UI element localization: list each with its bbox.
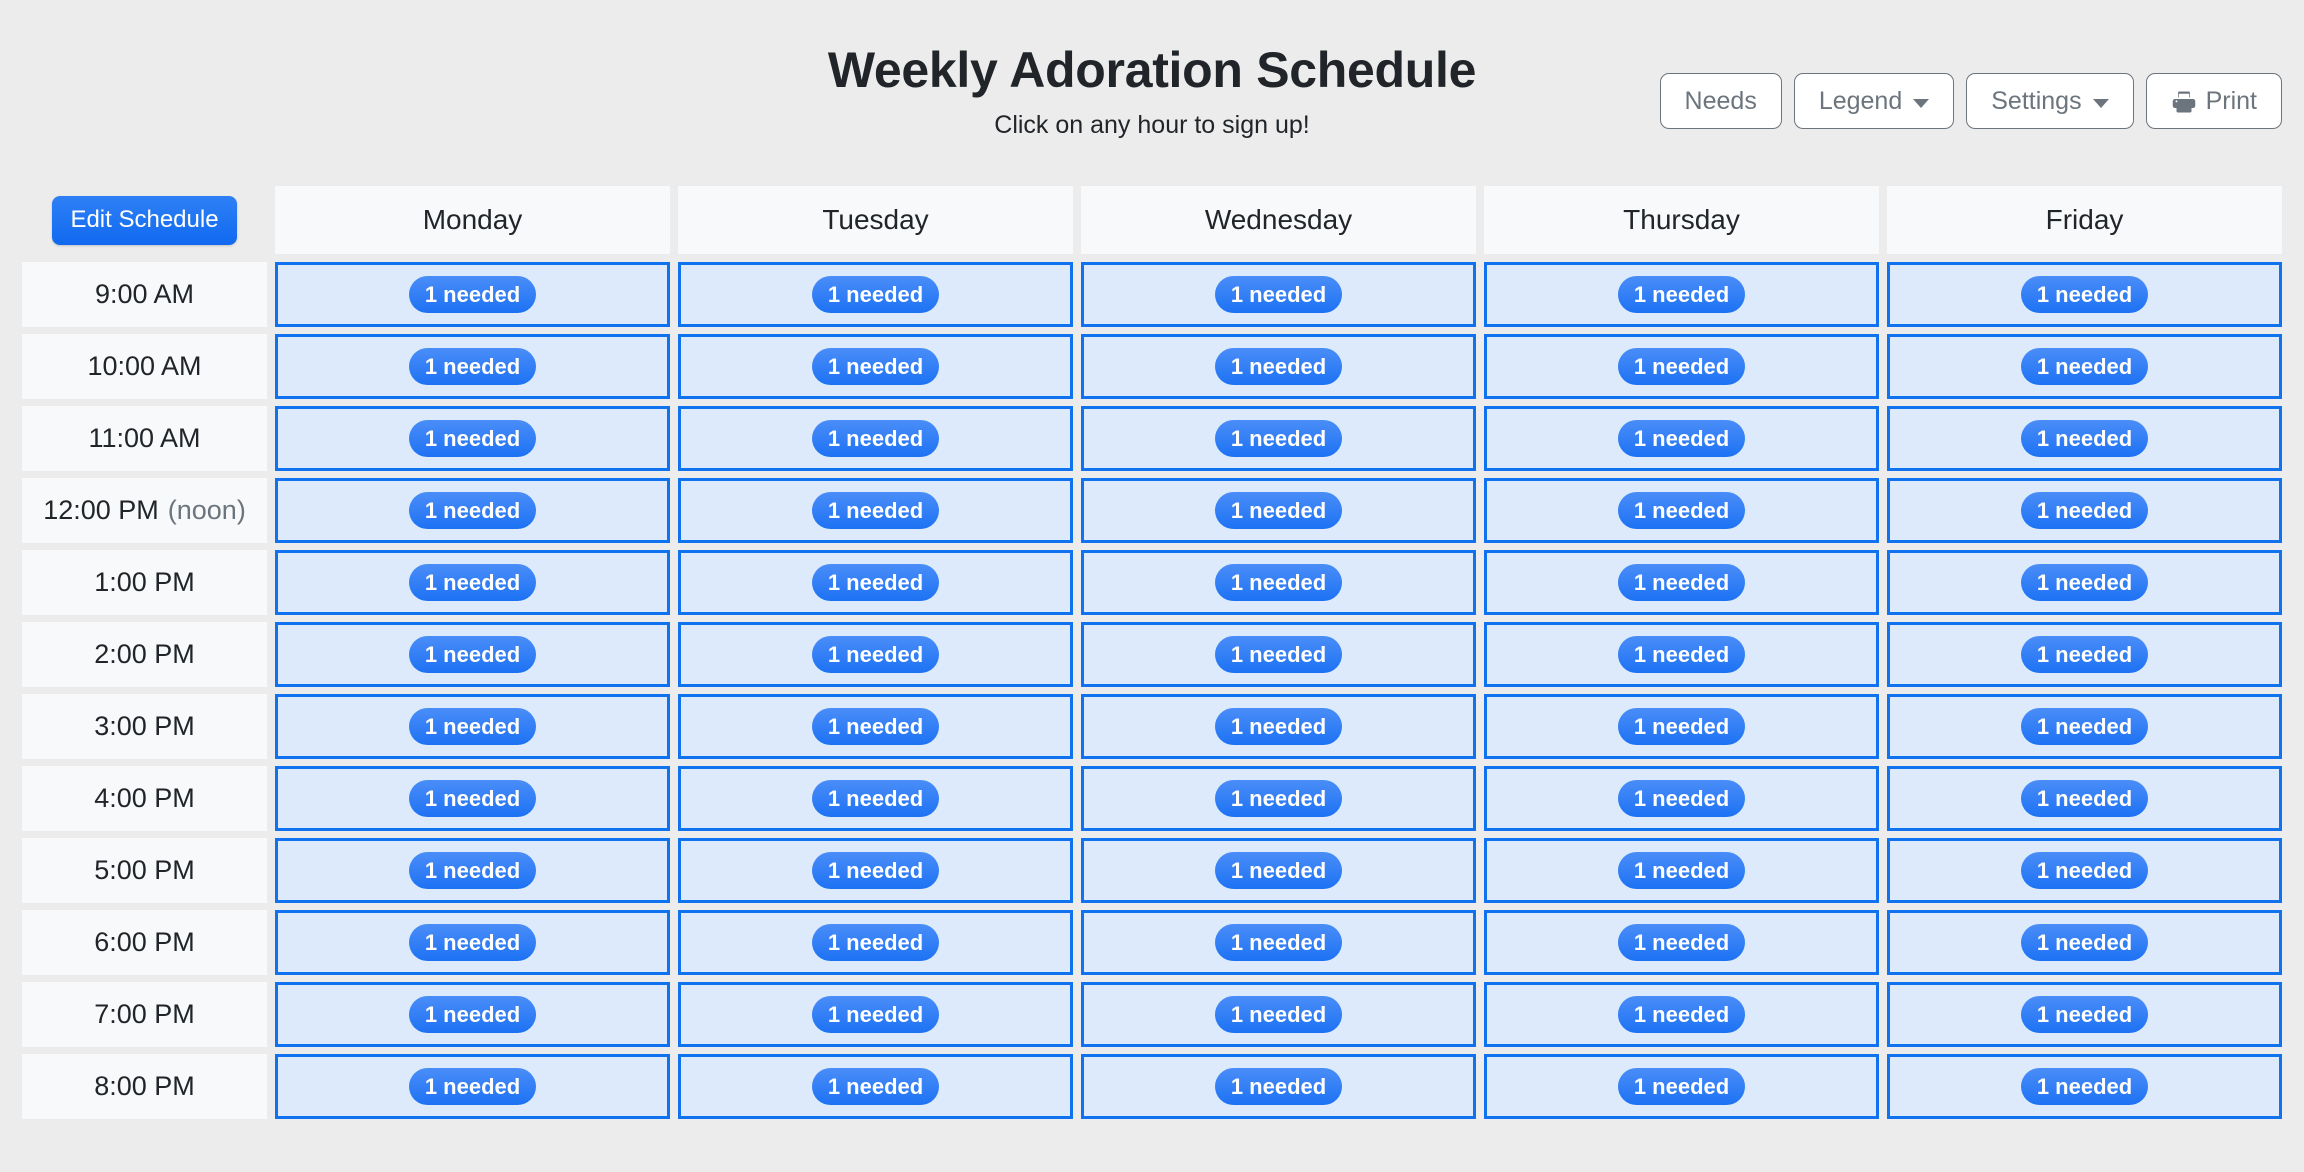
schedule-cell-tuesday: 1 needed: [678, 478, 1073, 543]
hour-slot[interactable]: 1 needed: [1484, 1054, 1879, 1119]
schedule-row: 9:00 AM1 needed1 needed1 needed1 needed1…: [0, 262, 2304, 327]
schedule-cell-wednesday: 1 needed: [1081, 910, 1476, 975]
time-label: 4:00 PM: [22, 766, 267, 831]
needed-badge: 1 needed: [1215, 1068, 1342, 1105]
schedule-cell-friday: 1 needed: [1887, 694, 2282, 759]
time-label-cell: 4:00 PM: [22, 766, 267, 831]
time-label: 7:00 PM: [22, 982, 267, 1047]
schedule-row: 5:00 PM1 needed1 needed1 needed1 needed1…: [0, 838, 2304, 903]
time-label: 9:00 AM: [22, 262, 267, 327]
needs-button-label: Needs: [1685, 89, 1757, 114]
hour-slot[interactable]: 1 needed: [1484, 766, 1879, 831]
hour-slot[interactable]: 1 needed: [1484, 406, 1879, 471]
hour-slot[interactable]: 1 needed: [1887, 766, 2282, 831]
schedule-cell-wednesday: 1 needed: [1081, 262, 1476, 327]
hour-slot[interactable]: 1 needed: [275, 550, 670, 615]
needed-badge: 1 needed: [409, 1068, 536, 1105]
day-header-friday: Friday: [1887, 186, 2282, 254]
day-header-label: Thursday: [1484, 186, 1879, 254]
schedule-row: 3:00 PM1 needed1 needed1 needed1 needed1…: [0, 694, 2304, 759]
hour-slot[interactable]: 1 needed: [1484, 478, 1879, 543]
chevron-down-icon: [2093, 99, 2109, 108]
schedule-row: 2:00 PM1 needed1 needed1 needed1 needed1…: [0, 622, 2304, 687]
needed-badge: 1 needed: [2021, 636, 2148, 673]
needed-badge: 1 needed: [812, 708, 939, 745]
hour-slot[interactable]: 1 needed: [1484, 334, 1879, 399]
time-label-cell: 9:00 AM: [22, 262, 267, 327]
schedule-cell-tuesday: 1 needed: [678, 910, 1073, 975]
printer-icon: [2171, 90, 2197, 114]
schedule-page: Weekly Adoration Schedule Click on any h…: [0, 0, 2304, 1172]
hour-slot[interactable]: 1 needed: [275, 766, 670, 831]
hour-slot[interactable]: 1 needed: [1081, 406, 1476, 471]
time-label-cell: 1:00 PM: [22, 550, 267, 615]
hour-slot[interactable]: 1 needed: [1887, 334, 2282, 399]
needed-badge: 1 needed: [1215, 348, 1342, 385]
time-label-text: 8:00 PM: [94, 1071, 195, 1102]
header-toolbar: Needs Legend Settings Print: [1660, 73, 2282, 129]
hour-slot[interactable]: 1 needed: [678, 334, 1073, 399]
needed-badge: 1 needed: [1215, 996, 1342, 1033]
schedule-row: 7:00 PM1 needed1 needed1 needed1 needed1…: [0, 982, 2304, 1047]
day-header-monday: Monday: [275, 186, 670, 254]
edit-schedule-cell: Edit Schedule: [22, 186, 267, 254]
schedule-cell-monday: 1 needed: [275, 694, 670, 759]
schedule-row: 1:00 PM1 needed1 needed1 needed1 needed1…: [0, 550, 2304, 615]
schedule-cell-wednesday: 1 needed: [1081, 406, 1476, 471]
hour-slot[interactable]: 1 needed: [678, 1054, 1073, 1119]
schedule-cell-monday: 1 needed: [275, 334, 670, 399]
needed-badge: 1 needed: [2021, 276, 2148, 313]
chevron-down-icon: [1913, 99, 1929, 108]
schedule-cell-friday: 1 needed: [1887, 622, 2282, 687]
schedule-rows: 9:00 AM1 needed1 needed1 needed1 needed1…: [0, 262, 2304, 1119]
hour-slot[interactable]: 1 needed: [1887, 406, 2282, 471]
schedule-cell-thursday: 1 needed: [1484, 622, 1879, 687]
time-label: 3:00 PM: [22, 694, 267, 759]
needed-badge: 1 needed: [1215, 780, 1342, 817]
needed-badge: 1 needed: [1215, 708, 1342, 745]
schedule-row: 6:00 PM1 needed1 needed1 needed1 needed1…: [0, 910, 2304, 975]
needed-badge: 1 needed: [409, 276, 536, 313]
schedule-cell-friday: 1 needed: [1887, 478, 2282, 543]
needed-badge: 1 needed: [1618, 420, 1745, 457]
needed-badge: 1 needed: [812, 924, 939, 961]
schedule-cell-thursday: 1 needed: [1484, 766, 1879, 831]
time-label-text: 7:00 PM: [94, 999, 195, 1030]
hour-slot[interactable]: 1 needed: [1887, 622, 2282, 687]
needed-badge: 1 needed: [409, 996, 536, 1033]
hour-slot[interactable]: 1 needed: [1081, 478, 1476, 543]
time-label-cell: 2:00 PM: [22, 622, 267, 687]
hour-slot[interactable]: 1 needed: [1887, 262, 2282, 327]
schedule-cell-monday: 1 needed: [275, 838, 670, 903]
hour-slot[interactable]: 1 needed: [1887, 550, 2282, 615]
time-label: 8:00 PM: [22, 1054, 267, 1119]
hour-slot[interactable]: 1 needed: [1081, 982, 1476, 1047]
hour-slot[interactable]: 1 needed: [275, 694, 670, 759]
time-label: 2:00 PM: [22, 622, 267, 687]
time-label-cell: 12:00 PM(noon): [22, 478, 267, 543]
time-label-text: 5:00 PM: [94, 855, 195, 886]
time-label-cell: 5:00 PM: [22, 838, 267, 903]
time-label: 12:00 PM(noon): [22, 478, 267, 543]
schedule-cell-wednesday: 1 needed: [1081, 622, 1476, 687]
needed-badge: 1 needed: [1215, 420, 1342, 457]
hour-slot[interactable]: 1 needed: [275, 982, 670, 1047]
hour-slot[interactable]: 1 needed: [1081, 766, 1476, 831]
time-label-cell: 7:00 PM: [22, 982, 267, 1047]
schedule-cell-thursday: 1 needed: [1484, 334, 1879, 399]
needed-badge: 1 needed: [409, 708, 536, 745]
needed-badge: 1 needed: [812, 564, 939, 601]
schedule-row: 10:00 AM1 needed1 needed1 needed1 needed…: [0, 334, 2304, 399]
time-label-cell: 11:00 AM: [22, 406, 267, 471]
needed-badge: 1 needed: [812, 852, 939, 889]
settings-button-label: Settings: [1991, 89, 2081, 114]
hour-slot[interactable]: 1 needed: [1887, 694, 2282, 759]
needed-badge: 1 needed: [1618, 564, 1745, 601]
day-header-label: Friday: [1887, 186, 2282, 254]
day-header-label: Wednesday: [1081, 186, 1476, 254]
schedule-cell-wednesday: 1 needed: [1081, 694, 1476, 759]
time-label: 5:00 PM: [22, 838, 267, 903]
needed-badge: 1 needed: [1618, 492, 1745, 529]
hour-slot[interactable]: 1 needed: [275, 910, 670, 975]
time-label-text: 12:00 PM: [43, 495, 159, 526]
schedule-cell-tuesday: 1 needed: [678, 406, 1073, 471]
needed-badge: 1 needed: [812, 1068, 939, 1105]
day-header-tuesday: Tuesday: [678, 186, 1073, 254]
needed-badge: 1 needed: [1618, 852, 1745, 889]
hour-slot[interactable]: 1 needed: [275, 334, 670, 399]
needed-badge: 1 needed: [2021, 996, 2148, 1033]
hour-slot[interactable]: 1 needed: [1081, 910, 1476, 975]
schedule-cell-thursday: 1 needed: [1484, 982, 1879, 1047]
time-label-text: 6:00 PM: [94, 927, 195, 958]
needed-badge: 1 needed: [1215, 924, 1342, 961]
needed-badge: 1 needed: [812, 348, 939, 385]
needed-badge: 1 needed: [812, 780, 939, 817]
needed-badge: 1 needed: [1618, 708, 1745, 745]
settings-dropdown-button[interactable]: Settings: [1966, 73, 2133, 129]
schedule-cell-wednesday: 1 needed: [1081, 838, 1476, 903]
needed-badge: 1 needed: [2021, 492, 2148, 529]
hour-slot[interactable]: 1 needed: [1081, 262, 1476, 327]
schedule-cell-tuesday: 1 needed: [678, 694, 1073, 759]
schedule-cell-tuesday: 1 needed: [678, 262, 1073, 327]
hour-slot[interactable]: 1 needed: [275, 622, 670, 687]
hour-slot[interactable]: 1 needed: [1887, 910, 2282, 975]
hour-slot[interactable]: 1 needed: [678, 838, 1073, 903]
schedule-cell-friday: 1 needed: [1887, 262, 2282, 327]
schedule-cell-tuesday: 1 needed: [678, 766, 1073, 831]
schedule-cell-thursday: 1 needed: [1484, 694, 1879, 759]
schedule-header-row: Edit Schedule Monday Tuesday Wednesday T…: [0, 186, 2304, 254]
needed-badge: 1 needed: [409, 564, 536, 601]
schedule-cell-thursday: 1 needed: [1484, 1054, 1879, 1119]
legend-button-label: Legend: [1819, 89, 1902, 114]
hour-slot[interactable]: 1 needed: [678, 766, 1073, 831]
hour-slot[interactable]: 1 needed: [1081, 334, 1476, 399]
needed-badge: 1 needed: [409, 636, 536, 673]
schedule-cell-tuesday: 1 needed: [678, 334, 1073, 399]
time-label-note: (noon): [168, 495, 246, 526]
page-header: Weekly Adoration Schedule Click on any h…: [0, 0, 2304, 186]
schedule-cell-monday: 1 needed: [275, 910, 670, 975]
time-label-text: 10:00 AM: [87, 351, 201, 382]
time-label-text: 9:00 AM: [95, 279, 194, 310]
schedule-cell-tuesday: 1 needed: [678, 1054, 1073, 1119]
schedule-cell-friday: 1 needed: [1887, 550, 2282, 615]
hour-slot[interactable]: 1 needed: [678, 550, 1073, 615]
hour-slot[interactable]: 1 needed: [678, 910, 1073, 975]
schedule-cell-thursday: 1 needed: [1484, 478, 1879, 543]
needed-badge: 1 needed: [1618, 924, 1745, 961]
hour-slot[interactable]: 1 needed: [1887, 982, 2282, 1047]
schedule-row: 4:00 PM1 needed1 needed1 needed1 needed1…: [0, 766, 2304, 831]
schedule-cell-wednesday: 1 needed: [1081, 550, 1476, 615]
hour-slot[interactable]: 1 needed: [1887, 838, 2282, 903]
schedule-cell-friday: 1 needed: [1887, 838, 2282, 903]
schedule-row: 12:00 PM(noon)1 needed1 needed1 needed1 …: [0, 478, 2304, 543]
print-button-label: Print: [2206, 89, 2257, 114]
hour-slot[interactable]: 1 needed: [678, 262, 1073, 327]
needed-badge: 1 needed: [1618, 276, 1745, 313]
hour-slot[interactable]: 1 needed: [1484, 982, 1879, 1047]
schedule-cell-tuesday: 1 needed: [678, 622, 1073, 687]
needed-badge: 1 needed: [812, 492, 939, 529]
needed-badge: 1 needed: [409, 420, 536, 457]
schedule-cell-friday: 1 needed: [1887, 334, 2282, 399]
schedule-cell-wednesday: 1 needed: [1081, 334, 1476, 399]
hour-slot[interactable]: 1 needed: [1081, 838, 1476, 903]
schedule-cell-monday: 1 needed: [275, 766, 670, 831]
needed-badge: 1 needed: [1215, 564, 1342, 601]
needed-badge: 1 needed: [2021, 420, 2148, 457]
time-label-cell: 3:00 PM: [22, 694, 267, 759]
schedule-cell-monday: 1 needed: [275, 262, 670, 327]
schedule-row: 11:00 AM1 needed1 needed1 needed1 needed…: [0, 406, 2304, 471]
schedule-cell-wednesday: 1 needed: [1081, 478, 1476, 543]
needed-badge: 1 needed: [409, 780, 536, 817]
hour-slot[interactable]: 1 needed: [1081, 550, 1476, 615]
time-label-text: 2:00 PM: [94, 639, 195, 670]
hour-slot[interactable]: 1 needed: [1484, 550, 1879, 615]
hour-slot[interactable]: 1 needed: [275, 406, 670, 471]
hour-slot[interactable]: 1 needed: [275, 262, 670, 327]
schedule-cell-monday: 1 needed: [275, 622, 670, 687]
needed-badge: 1 needed: [812, 636, 939, 673]
edit-schedule-button[interactable]: Edit Schedule: [52, 196, 236, 245]
hour-slot[interactable]: 1 needed: [1484, 262, 1879, 327]
schedule-cell-friday: 1 needed: [1887, 766, 2282, 831]
needed-badge: 1 needed: [1618, 636, 1745, 673]
needed-badge: 1 needed: [1618, 1068, 1745, 1105]
needed-badge: 1 needed: [2021, 852, 2148, 889]
schedule-cell-friday: 1 needed: [1887, 1054, 2282, 1119]
needed-badge: 1 needed: [2021, 708, 2148, 745]
hour-slot[interactable]: 1 needed: [1081, 622, 1476, 687]
needed-badge: 1 needed: [812, 276, 939, 313]
time-label-text: 1:00 PM: [94, 567, 195, 598]
needs-button[interactable]: Needs: [1660, 73, 1782, 129]
needed-badge: 1 needed: [1618, 780, 1745, 817]
day-header-wednesday: Wednesday: [1081, 186, 1476, 254]
time-label: 6:00 PM: [22, 910, 267, 975]
needed-badge: 1 needed: [409, 852, 536, 889]
time-label: 11:00 AM: [22, 406, 267, 471]
day-header-thursday: Thursday: [1484, 186, 1879, 254]
hour-slot[interactable]: 1 needed: [1081, 1054, 1476, 1119]
needed-badge: 1 needed: [2021, 564, 2148, 601]
schedule-grid: Edit Schedule Monday Tuesday Wednesday T…: [0, 186, 2304, 1172]
needed-badge: 1 needed: [409, 348, 536, 385]
schedule-cell-thursday: 1 needed: [1484, 838, 1879, 903]
schedule-cell-tuesday: 1 needed: [678, 550, 1073, 615]
schedule-cell-friday: 1 needed: [1887, 406, 2282, 471]
hour-slot[interactable]: 1 needed: [1887, 1054, 2282, 1119]
needed-badge: 1 needed: [2021, 924, 2148, 961]
needed-badge: 1 needed: [1215, 636, 1342, 673]
time-label-text: 11:00 AM: [88, 423, 200, 454]
schedule-cell-monday: 1 needed: [275, 550, 670, 615]
hour-slot[interactable]: 1 needed: [1081, 694, 1476, 759]
hour-slot[interactable]: 1 needed: [1484, 838, 1879, 903]
needed-badge: 1 needed: [2021, 348, 2148, 385]
needed-badge: 1 needed: [2021, 780, 2148, 817]
hour-slot[interactable]: 1 needed: [275, 838, 670, 903]
schedule-cell-wednesday: 1 needed: [1081, 766, 1476, 831]
needed-badge: 1 needed: [2021, 1068, 2148, 1105]
hour-slot[interactable]: 1 needed: [275, 1054, 670, 1119]
time-label-cell: 8:00 PM: [22, 1054, 267, 1119]
needed-badge: 1 needed: [409, 492, 536, 529]
needed-badge: 1 needed: [1215, 492, 1342, 529]
needed-badge: 1 needed: [812, 420, 939, 457]
hour-slot[interactable]: 1 needed: [678, 622, 1073, 687]
needed-badge: 1 needed: [1215, 276, 1342, 313]
time-label-text: 3:00 PM: [94, 711, 195, 742]
hour-slot[interactable]: 1 needed: [678, 406, 1073, 471]
hour-slot[interactable]: 1 needed: [1887, 478, 2282, 543]
day-header-label: Tuesday: [678, 186, 1073, 254]
hour-slot[interactable]: 1 needed: [275, 478, 670, 543]
legend-dropdown-button[interactable]: Legend: [1794, 73, 1954, 129]
hour-slot[interactable]: 1 needed: [1484, 694, 1879, 759]
schedule-cell-thursday: 1 needed: [1484, 910, 1879, 975]
hour-slot[interactable]: 1 needed: [678, 982, 1073, 1047]
time-label-text: 4:00 PM: [94, 783, 195, 814]
hour-slot[interactable]: 1 needed: [678, 694, 1073, 759]
schedule-cell-monday: 1 needed: [275, 982, 670, 1047]
schedule-cell-thursday: 1 needed: [1484, 550, 1879, 615]
schedule-cell-tuesday: 1 needed: [678, 838, 1073, 903]
hour-slot[interactable]: 1 needed: [1484, 910, 1879, 975]
needed-badge: 1 needed: [409, 924, 536, 961]
needed-badge: 1 needed: [1618, 996, 1745, 1033]
schedule-cell-thursday: 1 needed: [1484, 406, 1879, 471]
day-header-label: Monday: [275, 186, 670, 254]
needed-badge: 1 needed: [1215, 852, 1342, 889]
needed-badge: 1 needed: [812, 996, 939, 1033]
schedule-cell-monday: 1 needed: [275, 406, 670, 471]
hour-slot[interactable]: 1 needed: [678, 478, 1073, 543]
schedule-cell-monday: 1 needed: [275, 1054, 670, 1119]
schedule-cell-friday: 1 needed: [1887, 982, 2282, 1047]
schedule-cell-tuesday: 1 needed: [678, 982, 1073, 1047]
print-button[interactable]: Print: [2146, 73, 2282, 129]
time-label: 1:00 PM: [22, 550, 267, 615]
schedule-cell-thursday: 1 needed: [1484, 262, 1879, 327]
schedule-cell-wednesday: 1 needed: [1081, 982, 1476, 1047]
needed-badge: 1 needed: [1618, 348, 1745, 385]
time-label-cell: 10:00 AM: [22, 334, 267, 399]
time-label: 10:00 AM: [22, 334, 267, 399]
hour-slot[interactable]: 1 needed: [1484, 622, 1879, 687]
time-label-cell: 6:00 PM: [22, 910, 267, 975]
schedule-cell-friday: 1 needed: [1887, 910, 2282, 975]
schedule-row: 8:00 PM1 needed1 needed1 needed1 needed1…: [0, 1054, 2304, 1119]
schedule-cell-monday: 1 needed: [275, 478, 670, 543]
schedule-cell-wednesday: 1 needed: [1081, 1054, 1476, 1119]
